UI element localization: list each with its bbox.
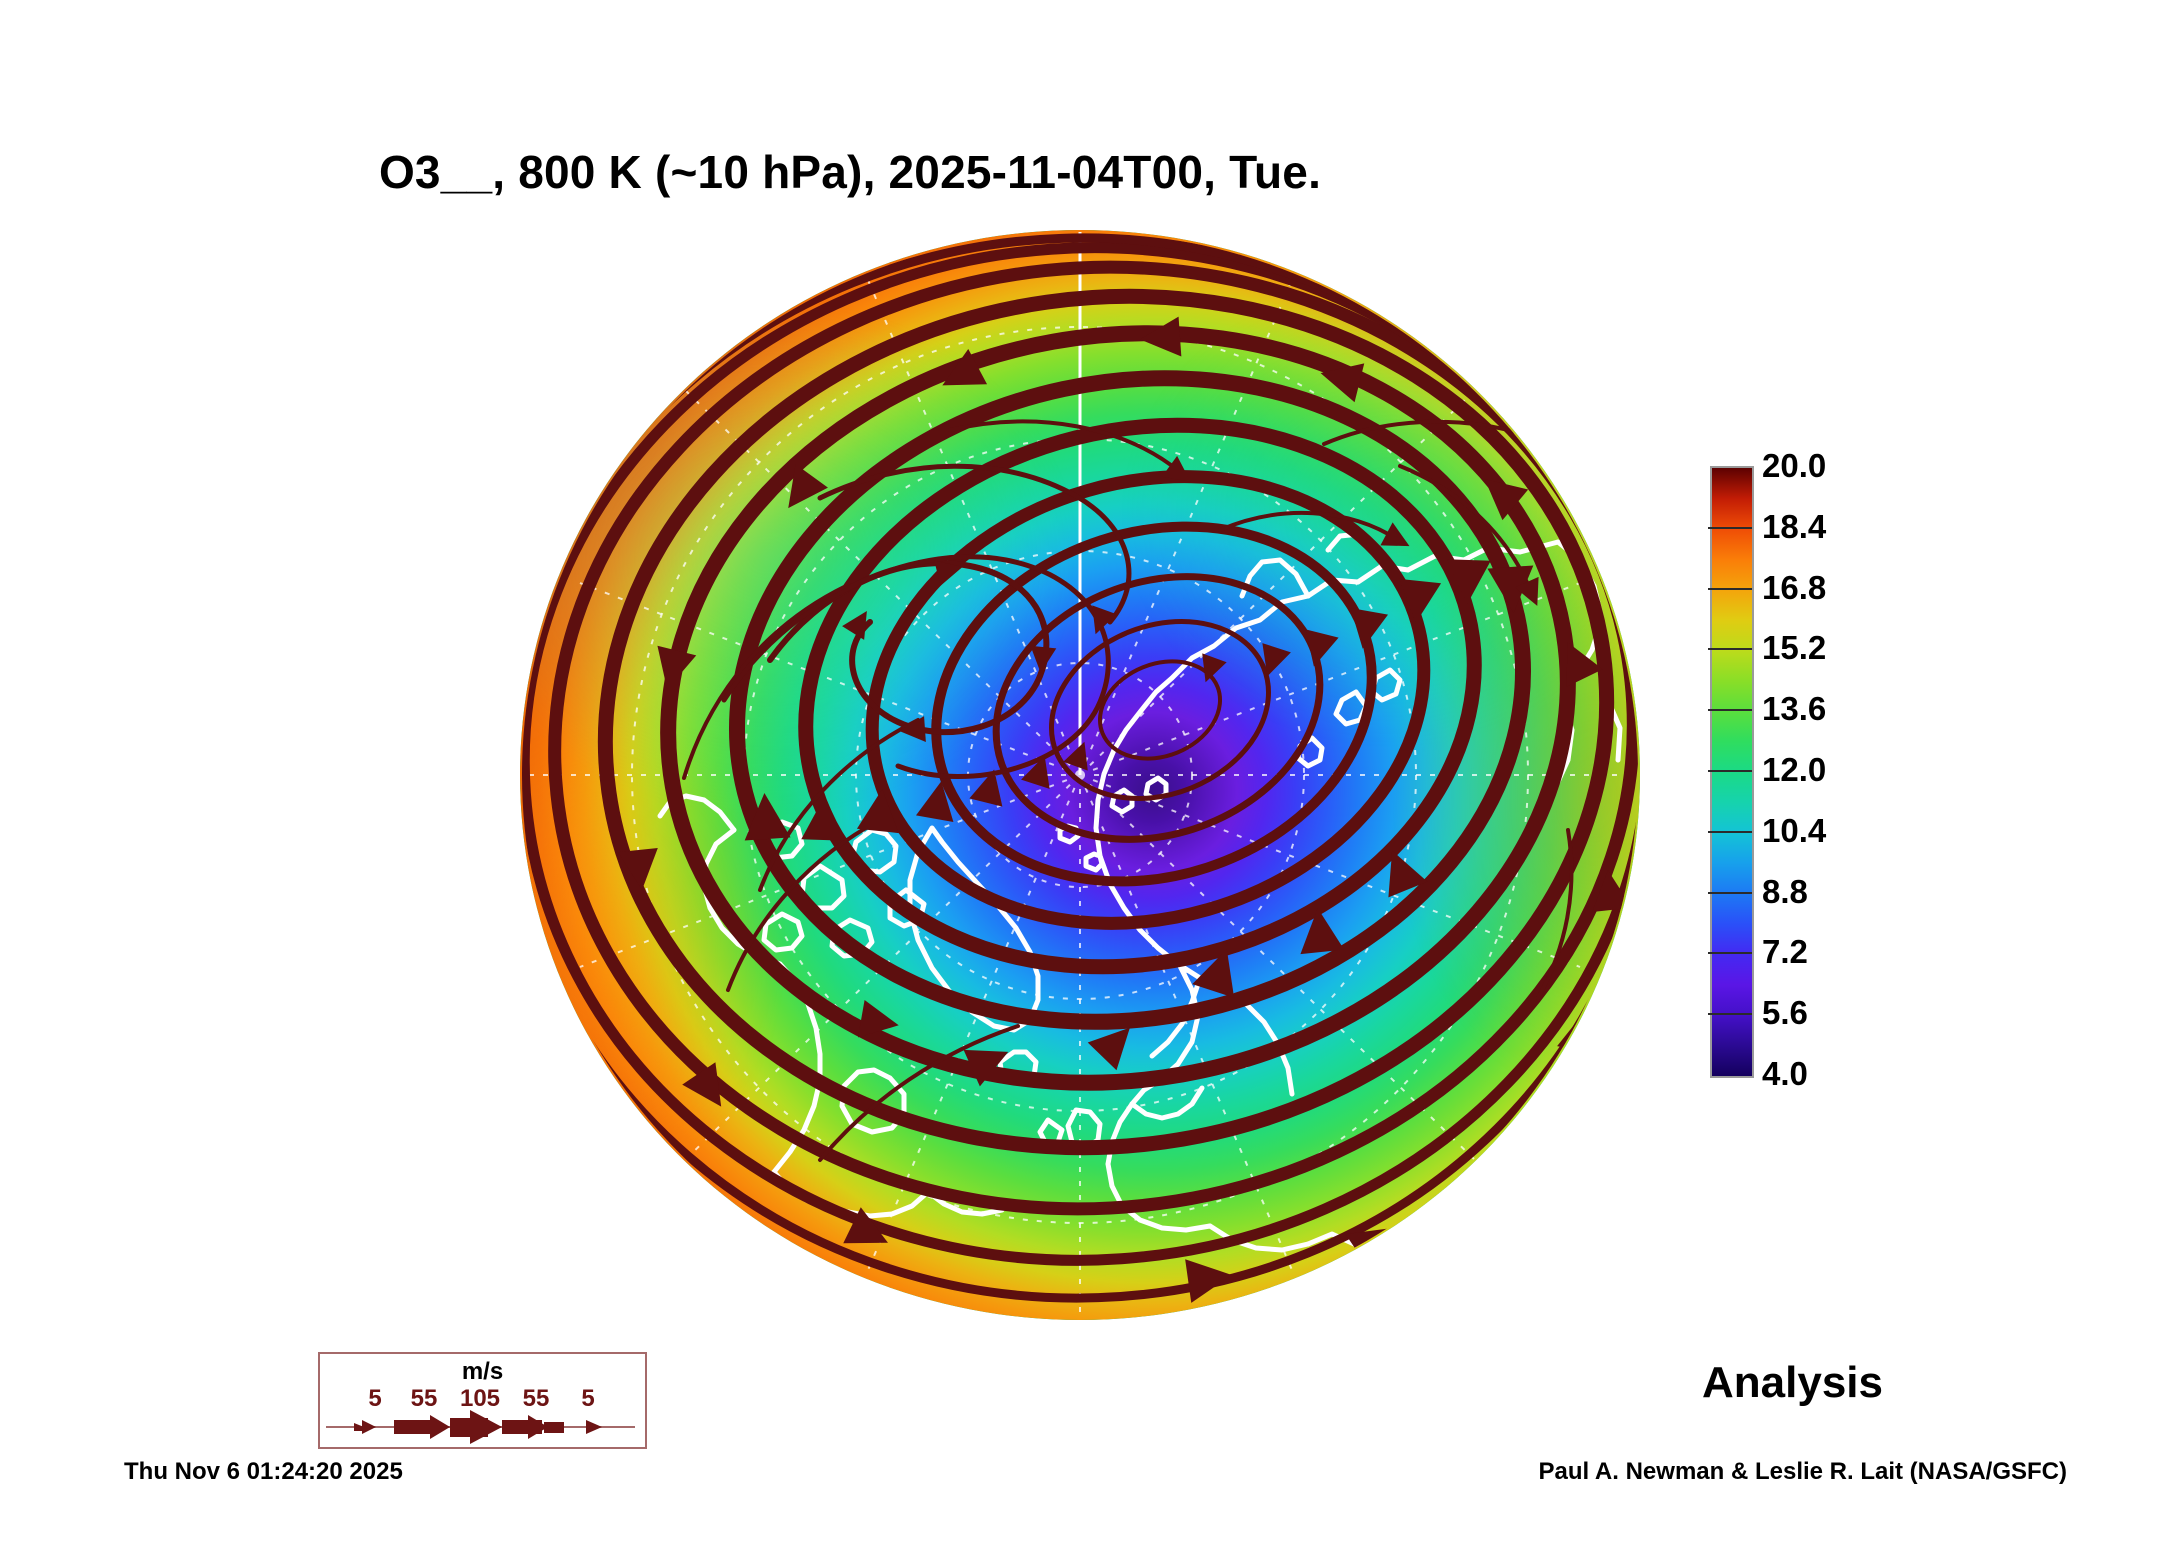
colorbar-tick-label: 12.0 (1762, 751, 1826, 789)
wind-speed-key: m/s 555105555 (318, 1352, 647, 1449)
colorbar-tick-label: 13.6 (1762, 690, 1826, 728)
colorbar-tick-label: 10.4 (1762, 812, 1826, 850)
colorbar-tick-label: 5.6 (1762, 994, 1808, 1032)
colorbar-tick (1708, 770, 1752, 772)
colorbar-tick (1708, 1013, 1752, 1015)
wind-key-speed-label: 5 (368, 1385, 381, 1413)
render-timestamp: Thu Nov 6 01:24:20 2025 (124, 1458, 403, 1486)
analysis-label: Analysis (1702, 1358, 1883, 1408)
colorbar-tick (1708, 892, 1752, 894)
polar-map (520, 230, 1640, 1320)
colorbar-tick (1708, 648, 1752, 650)
colorbar-tick (1708, 952, 1752, 954)
wind-key-speed-label: 5 (581, 1385, 594, 1413)
wind-key-speed-label: 55 (523, 1385, 550, 1413)
colorbar-tick (1708, 709, 1752, 711)
wind-key-arrows (320, 1410, 641, 1444)
colorbar-tick-label: 8.8 (1762, 873, 1808, 911)
colorbar-tick (1708, 588, 1752, 590)
map-disc (520, 230, 1640, 1320)
colorbar-tick-label: 20.0 (1762, 447, 1826, 485)
colorbar-tick-label: 7.2 (1762, 933, 1808, 971)
wind-key-speed-label: 105 (460, 1385, 500, 1413)
author-credits: Paul A. Newman & Leslie R. Lait (NASA/GS… (1538, 1458, 2067, 1486)
colorbar-tick (1708, 831, 1752, 833)
colorbar-gradient (1710, 466, 1754, 1078)
colorbar-tick-label: 16.8 (1762, 569, 1826, 607)
colorbar-tick-label: 15.2 (1762, 629, 1826, 667)
colorbar-tick (1708, 527, 1752, 529)
disc-edge-mask (520, 230, 1640, 1320)
page-title: O3__, 800 K (~10 hPa), 2025-11-04T00, Tu… (0, 145, 1700, 199)
colorbar-tick-label: 4.0 (1762, 1055, 1808, 1093)
colorbar-tick-label: 18.4 (1762, 508, 1826, 546)
wind-key-unit-label: m/s (320, 1358, 645, 1386)
wind-key-speed-label: 55 (411, 1385, 438, 1413)
